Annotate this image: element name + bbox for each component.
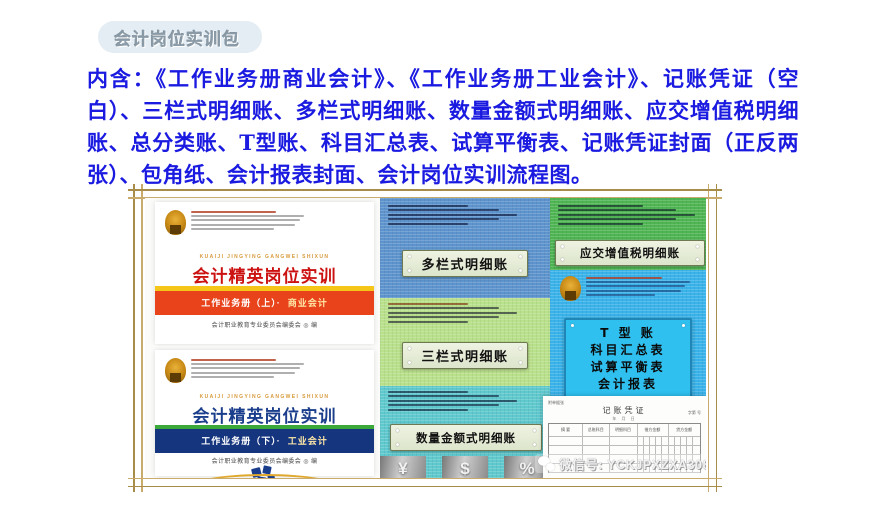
wechat-id-text: 微信号: YCKJPXZXA308 bbox=[559, 454, 706, 473]
ledger-title: 多栏式明细账 bbox=[421, 254, 508, 273]
book-cover-industrial: KUAIJI JINGYING GANGWEI SHIXUN 会计精英岗位实训 … bbox=[145, 346, 380, 478]
contents-description: 内含：《工作业务册商业会计》、《工作业务册工业会计》、记账凭证（空白）、三栏式明… bbox=[87, 63, 799, 191]
book-pinyin: KUAIJI JINGYING GANGWEI SHIXUN bbox=[155, 394, 374, 400]
book-band: 工作业务册（下）· 工业会计 bbox=[155, 429, 374, 453]
ledger-three-column: 三栏式明细账 bbox=[380, 298, 550, 386]
book-author: 会计职业教育专业委员会编委会 ◎ 编 bbox=[155, 320, 374, 329]
ledger-blurb-lines bbox=[388, 303, 517, 325]
product-photo: KUAIJI JINGYING GANGWEI SHIXUN 会计精英岗位实训 … bbox=[145, 198, 706, 478]
page-title: 会计岗位实训包 bbox=[114, 25, 240, 50]
book-band-text: 工作业务册（上）· 商业会计 bbox=[155, 296, 374, 309]
currency-symbol-dollar: $ bbox=[442, 456, 488, 478]
ledger-title: 应交增值税明细账 bbox=[580, 245, 680, 261]
ledger-title-plate: 数量金额式明细账 bbox=[390, 424, 542, 451]
frame-line-right-inner bbox=[708, 184, 710, 492]
ledger-blurb-lines bbox=[388, 391, 517, 413]
gold-seal-icon bbox=[560, 276, 581, 301]
book-title: 会计精英岗位实训 bbox=[155, 402, 374, 427]
ledger-title-plate: 应交增值税明细账 bbox=[555, 240, 705, 266]
book-title: 会计精英岗位实训 bbox=[155, 262, 374, 287]
voucher-number-label: 字第 号 bbox=[688, 410, 701, 416]
book-band: 工作业务册（上）· 商业会计 bbox=[155, 291, 374, 315]
board-line-t-account: T 型 账 bbox=[566, 325, 690, 342]
board-line-trial-balance: 试算平衡表 bbox=[566, 359, 690, 376]
voucher-date-line: 年 月 日 bbox=[543, 416, 706, 422]
book-pinyin: KUAIJI JINGYING GANGWEI SHIXUN bbox=[155, 254, 374, 260]
section-title-pill: 会计岗位实训包 bbox=[98, 21, 262, 53]
ledger-blue-cover: T 型 账 科目汇总表 试算平衡表 会计报表 bbox=[550, 270, 706, 413]
wechat-watermark: 微信号: YCKJPXZXA308 bbox=[535, 454, 706, 473]
frame-line-top-outer bbox=[128, 189, 722, 191]
currency-symbol-yen: ¥ bbox=[380, 456, 426, 478]
board-line-financial-statements: 会计报表 bbox=[566, 376, 690, 393]
ledger-quantity-amount: 数量金额式明细账 ¥ $ % bbox=[380, 386, 550, 478]
ledger-title-plate: 三栏式明细账 bbox=[402, 342, 528, 369]
gold-seal-icon bbox=[165, 358, 186, 383]
ledger-blurb-lines bbox=[586, 277, 694, 298]
voucher-col-debit: 借方金额 bbox=[637, 424, 669, 436]
frame-line-left-outer bbox=[133, 184, 135, 492]
voucher-col-credit: 贷方金额 bbox=[668, 424, 700, 436]
cover-swoosh-decoration bbox=[183, 474, 346, 478]
voucher-col-subsidiary: 明细科目 bbox=[609, 424, 636, 436]
book-blurb-lines bbox=[191, 211, 309, 232]
summary-board: T 型 账 科目汇总表 试算平衡表 会计报表 bbox=[564, 318, 692, 408]
book-cover-face: KUAIJI JINGYING GANGWEI SHIXUN 会计精英岗位实训 … bbox=[155, 202, 374, 344]
photo-frame: KUAIJI JINGYING GANGWEI SHIXUN 会计精英岗位实训 … bbox=[128, 184, 722, 492]
voucher-title: 记账凭证 bbox=[543, 405, 706, 416]
book-cover-commercial: KUAIJI JINGYING GANGWEI SHIXUN 会计精英岗位实训 … bbox=[145, 198, 380, 346]
currency-symbol-strip: ¥ $ % bbox=[380, 456, 550, 478]
voucher-col-summary: 摘 要 bbox=[549, 424, 582, 436]
ledger-blurb-lines bbox=[558, 205, 695, 227]
ledger-title: 三栏式明细账 bbox=[421, 346, 508, 365]
book-band-text: 工作业务册（下）· 工业会计 bbox=[155, 434, 374, 447]
frame-line-left-inner bbox=[141, 184, 143, 492]
ledger-title-plate: 多栏式明细账 bbox=[402, 250, 528, 277]
book-cover-face: KUAIJI JINGYING GANGWEI SHIXUN 会计精英岗位实训 … bbox=[155, 350, 374, 476]
ledger-multi-column: 多栏式明细账 bbox=[380, 198, 550, 298]
book-blurb-lines bbox=[191, 359, 309, 380]
book-author: 会计职业教育专业委员会编委会 ◎ 编 bbox=[155, 456, 374, 465]
frame-line-right-outer bbox=[716, 184, 718, 492]
voucher-col-general-ledger: 总账科目 bbox=[582, 424, 609, 436]
gold-seal-icon bbox=[165, 210, 186, 235]
ledger-title: 数量金额式明细账 bbox=[416, 430, 516, 446]
ledger-blurb-lines bbox=[388, 205, 517, 227]
wechat-icon bbox=[538, 456, 555, 471]
board-line-subject-summary: 科目汇总表 bbox=[566, 342, 690, 359]
frame-line-bottom-outer bbox=[128, 486, 722, 488]
ledger-vat-payable: 应交增值税明细账 bbox=[550, 198, 706, 270]
